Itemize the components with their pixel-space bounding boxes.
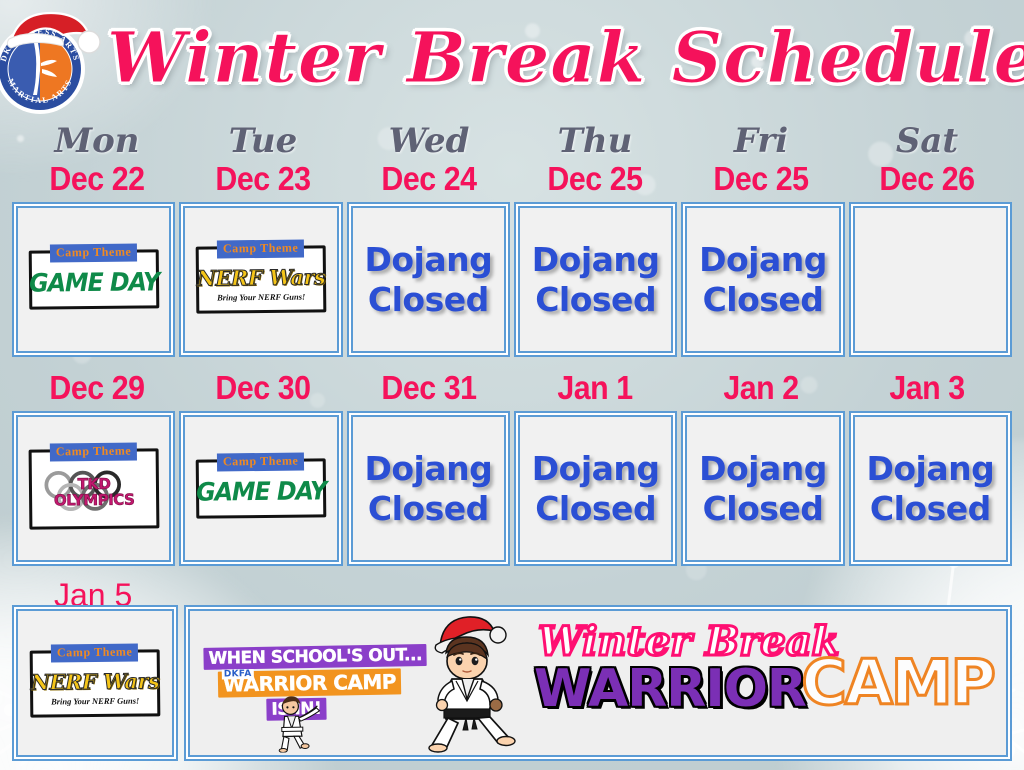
camp-theme-tkd-olympics-logo: Camp Theme	[28, 448, 159, 529]
calendar-cell[interactable]: Dojang Closed	[681, 411, 844, 566]
camp-theme-title: NERF Wars	[197, 264, 326, 290]
winter-break-schedule-poster: DK FITNESS ARTS MARTIAL ARTS Winter Brea…	[0, 0, 1024, 770]
cells-row-week2: Camp Theme	[12, 407, 1012, 566]
day-name-tue: Tue	[182, 122, 344, 160]
date-label: Dec 22	[22, 160, 171, 198]
camp-theme-subtitle: Bring Your NERF Guns!	[51, 695, 139, 706]
dkfa-badge: DKFA	[222, 669, 254, 680]
bottom-row: Camp Theme NERF Wars Bring Your NERF Gun…	[0, 605, 1024, 761]
calendar-cell[interactable]: Camp Theme GAME DAY	[179, 411, 342, 566]
day-name-mon: Mon	[16, 122, 178, 160]
closed-line2: Closed	[703, 489, 824, 528]
calendar-cell[interactable]: Dojang Closed	[514, 411, 677, 566]
date-label: Jan 2	[686, 369, 835, 407]
date-label: Dec 29	[22, 369, 171, 407]
closed-line1: Dojang	[699, 240, 827, 279]
warrior-word: WARRIOR	[534, 660, 806, 718]
calendar-cell-jan5[interactable]: Camp Theme NERF Wars Bring Your NERF Gun…	[12, 605, 178, 761]
camp-theme-banner: Camp Theme	[49, 442, 137, 461]
camp-theme-banner: Camp Theme	[217, 240, 305, 259]
dojang-closed-label: Dojang Closed	[532, 240, 660, 320]
dojang-closed-label: Dojang Closed	[866, 449, 994, 529]
date-label: Dec 25	[520, 160, 669, 198]
winter-break-warrior-camp-wordmark: Winter Break WARRIOR CAMP	[534, 616, 996, 750]
camp-theme-title: GAME DAY	[29, 268, 159, 298]
logo-svg: DK FITNESS ARTS MARTIAL ARTS	[0, 7, 103, 117]
date-row-week1: Dec 22 Dec 23 Dec 24 Dec 25 Dec 25 Dec 2…	[16, 160, 1008, 198]
closed-line1: Dojang	[866, 449, 994, 488]
date-label: Dec 25	[686, 160, 835, 198]
dojang-closed-label: Dojang Closed	[364, 240, 492, 320]
poster-header: DK FITNESS ARTS MARTIAL ARTS Winter Brea…	[0, 0, 1024, 122]
calendar-cell-empty[interactable]	[849, 202, 1012, 357]
closed-line2: Closed	[870, 489, 991, 528]
calendar-cell[interactable]: Dojang Closed	[681, 202, 844, 357]
calendar-cell[interactable]: Dojang Closed	[347, 411, 510, 566]
calendar-cell[interactable]: Dojang Closed	[347, 202, 510, 357]
closed-line2: Closed	[535, 489, 656, 528]
camp-theme-title: NERF Wars	[31, 668, 160, 694]
schools-out-lockup: WHEN SCHOOL'S OUT... DKFA WARRIOR CAMP I…	[203, 644, 416, 722]
date-label: Dec 23	[188, 160, 337, 198]
closed-line2: Closed	[535, 280, 656, 319]
date-label: Dec 31	[354, 369, 503, 407]
camp-theme-title: TKD OLYMPICS	[53, 475, 134, 508]
dk-fitness-arts-logo: DK FITNESS ARTS MARTIAL ARTS	[0, 7, 103, 117]
dojang-closed-label: Dojang Closed	[532, 449, 660, 529]
camp-theme-nerf-wars-logo: Camp Theme NERF Wars Bring Your NERF Gun…	[196, 245, 327, 313]
closed-line1: Dojang	[364, 240, 492, 279]
camp-theme-game-day-logo: Camp Theme GAME DAY	[196, 458, 327, 518]
calendar: Mon Tue Wed Thu Fri Sat Dec 22 Dec 23 De…	[0, 122, 1024, 614]
camp-theme-title: GAME DAY	[196, 477, 326, 507]
day-name-thu: Thu	[514, 122, 676, 160]
dojang-closed-label: Dojang Closed	[699, 240, 827, 320]
calendar-cell[interactable]: Camp Theme	[12, 411, 175, 566]
calendar-cell[interactable]: Dojang Closed	[514, 202, 677, 357]
small-karate-kid-icon	[274, 694, 321, 753]
tkd-line2: OLYMPICS	[53, 490, 134, 509]
calendar-cell[interactable]: Camp Theme NERF Wars Bring Your NERF Gun…	[179, 202, 342, 357]
date-label: Jan 3	[852, 369, 1001, 407]
closed-line1: Dojang	[532, 449, 660, 488]
dojang-closed-label: Dojang Closed	[699, 449, 827, 529]
closed-line2: Closed	[368, 280, 489, 319]
day-name-fri: Fri	[680, 122, 842, 160]
closed-line2: Closed	[368, 489, 489, 528]
camp-theme-banner: Camp Theme	[217, 453, 305, 472]
closed-line1: Dojang	[699, 449, 827, 488]
day-name-row: Mon Tue Wed Thu Fri Sat	[16, 122, 1008, 160]
closed-line1: Dojang	[364, 449, 492, 488]
camp-theme-game-day-logo: Camp Theme GAME DAY	[28, 249, 159, 309]
calendar-cell[interactable]: Camp Theme GAME DAY	[12, 202, 175, 357]
date-row-week2: Dec 29 Dec 30 Dec 31 Jan 1 Jan 2 Jan 3	[16, 369, 1008, 407]
calendar-cell[interactable]: Dojang Closed	[849, 411, 1012, 566]
closed-line1: Dojang	[532, 240, 660, 279]
day-name-sat: Sat	[846, 122, 1008, 160]
day-name-wed: Wed	[348, 122, 510, 160]
cells-row-week1: Camp Theme GAME DAY Camp Theme NERF Wars…	[12, 198, 1012, 357]
camp-theme-banner: Camp Theme	[50, 244, 138, 263]
dojang-closed-label: Dojang Closed	[364, 449, 492, 529]
schools-out-line1: WHEN SCHOOL'S OUT...	[203, 644, 427, 670]
closed-line2: Closed	[703, 280, 824, 319]
page-title: Winter Break Schedule	[107, 23, 1024, 93]
camp-theme-nerf-wars-logo: Camp Theme NERF Wars Bring Your NERF Gun…	[30, 649, 161, 717]
camp-word: CAMP	[801, 650, 994, 716]
date-label: Dec 30	[188, 369, 337, 407]
camp-theme-subtitle: Bring Your NERF Guns!	[217, 292, 305, 303]
camp-theme-banner: Camp Theme	[51, 643, 139, 662]
date-label: Dec 24	[354, 160, 503, 198]
date-label: Jan 1	[520, 369, 669, 407]
karate-kid-santa-hat-mascot	[418, 613, 526, 753]
date-label: Dec 26	[852, 160, 1001, 198]
winter-break-script: Winter Break	[538, 620, 839, 664]
warrior-camp-promo-banner[interactable]: WHEN SCHOOL'S OUT... DKFA WARRIOR CAMP I…	[184, 605, 1012, 761]
